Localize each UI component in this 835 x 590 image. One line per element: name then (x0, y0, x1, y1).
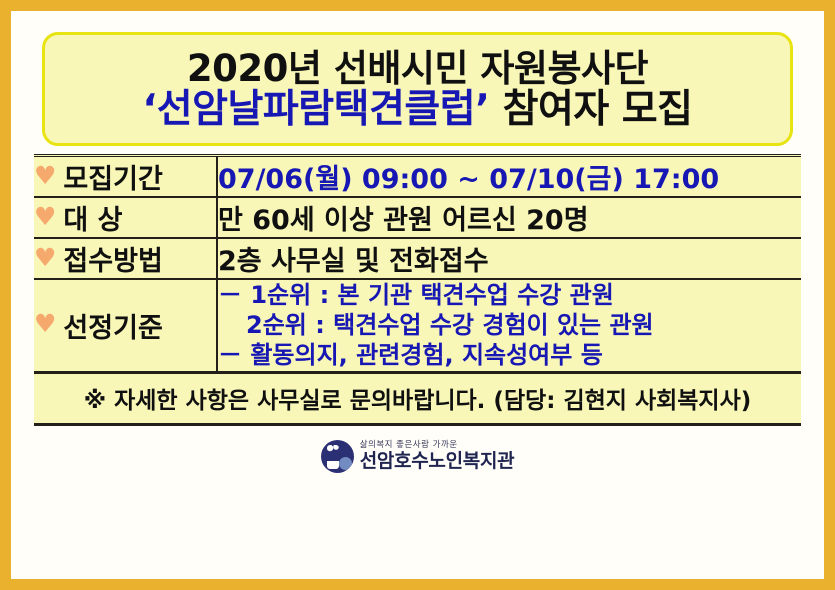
organization-logo: 삶의복지 좋은사람 가까운 선암호수노인복지관 (321, 440, 515, 473)
logo-text: 삶의복지 좋은사람 가까운 선암호수노인복지관 (360, 441, 515, 471)
criteria-line-2: 2순위 : 택견수업 수강 경험이 있는 관원 (218, 310, 801, 340)
row-value-cell: 07/06(월) 09:00 ~ 07/10(금) 17:00 (217, 157, 801, 197)
row-label: 모집기간 (63, 157, 162, 196)
criteria-line-3: － 활동의지, 관련경험, 지속성여부 등 (218, 340, 801, 370)
title-club-name: 선암날파람택견클럽 (157, 87, 475, 132)
table-row: ♥ 선정기준 － 1순위 : 본 기관 택견수업 수강 관원 2순위 : 택견수… (34, 279, 801, 371)
row-value-cell: 2층 사무실 및 전화접수 (217, 238, 801, 279)
row-value-cell: － 1순위 : 본 기관 택견수업 수강 관원 2순위 : 택견수업 수강 경험… (217, 279, 801, 371)
row-value-cell: 만 60세 이상 관원 어르신 20명 (217, 197, 801, 238)
table-row: ♥ 모집기간 07/06(월) 09:00 ~ 07/10(금) 17:00 (34, 157, 801, 197)
title-line-2: ‘선암날파람택견클럽’ 참여자 모집 (142, 89, 692, 131)
title-line-1: 2020년 선배시민 자원봉사단 (187, 49, 648, 89)
row-label-cell: ♥ 접수방법 (34, 238, 217, 279)
row-value: 만 60세 이상 관원 어르신 20명 (218, 198, 801, 237)
heart-icon: ♥ (34, 204, 56, 229)
logo-area: 삶의복지 좋은사람 가까운 선암호수노인복지관 (20, 440, 815, 473)
row-label: 대 상 (63, 198, 122, 237)
row-label-cell: ♥ 모집기간 (34, 157, 217, 197)
table-row: ♥ 접수방법 2층 사무실 및 전화접수 (34, 238, 801, 279)
people-emblem-icon (321, 440, 354, 473)
poster-inner: 2020년 선배시민 자원봉사단 ‘선암날파람택견클럽’ 참여자 모집 ♥ 모집… (11, 11, 824, 579)
footer-note-text: ※ 자세한 사항은 사무실로 문의바랍니다. (담당: 김현지 사회복지사) (84, 388, 752, 414)
logo-tagline: 삶의복지 좋은사람 가까운 (360, 441, 515, 450)
logo-name: 선암호수노인복지관 (360, 452, 515, 471)
row-value: 2층 사무실 및 전화접수 (218, 239, 801, 278)
row-label-cell: ♥ 대 상 (34, 197, 217, 238)
row-label: 접수방법 (63, 239, 162, 278)
poster: 2020년 선배시민 자원봉사단 ‘선암날파람택견클럽’ 참여자 모집 ♥ 모집… (0, 0, 835, 590)
title-line-2-rest: 참여자 모집 (490, 87, 693, 132)
title-box: 2020년 선배시민 자원봉사단 ‘선암날파람택견클럽’ 참여자 모집 (42, 32, 793, 146)
row-value: 07/06(월) 09:00 ~ 07/10(금) 17:00 (218, 157, 801, 196)
title-quote-close: ’ (475, 87, 489, 132)
footer-note: ※ 자세한 사항은 사무실로 문의바랍니다. (담당: 김현지 사회복지사) (34, 374, 801, 426)
info-table: ♥ 모집기간 07/06(월) 09:00 ~ 07/10(금) 17:00 (34, 157, 801, 371)
table-row: ♥ 대 상 만 60세 이상 관원 어르신 20명 (34, 197, 801, 238)
heart-icon: ♥ (34, 311, 56, 336)
heart-icon: ♥ (34, 245, 56, 270)
heart-icon: ♥ (34, 163, 56, 188)
criteria-line-1: － 1순위 : 본 기관 택견수업 수강 관원 (218, 280, 801, 310)
row-label: 선정기준 (63, 306, 162, 345)
title-quote-open: ‘ (142, 87, 156, 132)
row-label-cell: ♥ 선정기준 (34, 279, 217, 371)
info-table-wrap: ♥ 모집기간 07/06(월) 09:00 ~ 07/10(금) 17:00 (34, 154, 801, 374)
